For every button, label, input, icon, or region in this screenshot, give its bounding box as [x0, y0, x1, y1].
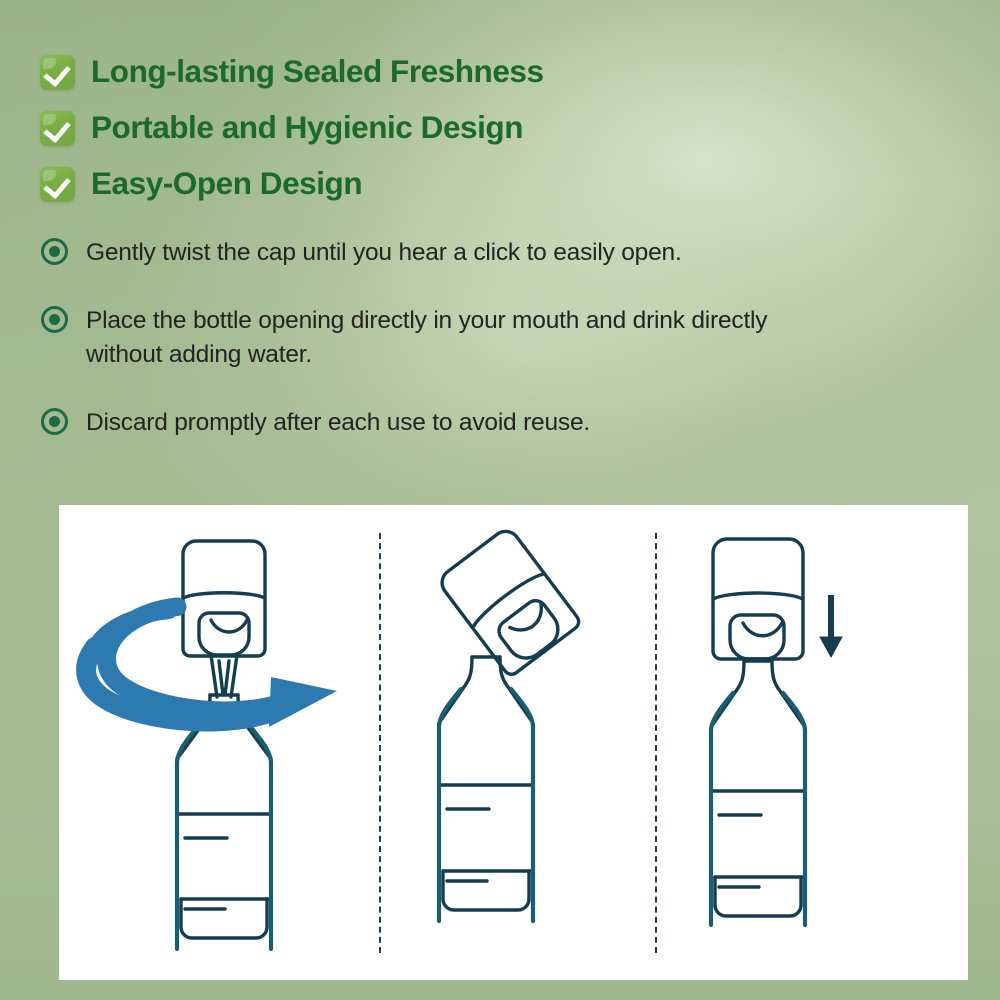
instruction-text: Discard promptly after each use to avoid…	[86, 406, 590, 439]
bottle-cap-press-down-icon	[655, 505, 968, 980]
remove-cap-step	[379, 505, 655, 980]
product-infographic: Long-lasting Sealed Freshness Portable a…	[0, 0, 1000, 1000]
feature-item: Long-lasting Sealed Freshness	[40, 44, 740, 100]
bottle-cap-removed-icon	[379, 505, 655, 980]
illustration-panel	[59, 505, 968, 980]
check-square-icon	[40, 111, 75, 146]
feature-label: Long-lasting Sealed Freshness	[91, 56, 544, 88]
instruction-text: Gently twist the cap until you hear a cl…	[86, 236, 682, 269]
feature-list: Long-lasting Sealed Freshness Portable a…	[40, 44, 740, 212]
check-square-icon	[40, 55, 75, 90]
feature-label: Portable and Hygienic Design	[91, 112, 523, 144]
instruction-list: Gently twist the cap until you hear a cl…	[41, 236, 831, 439]
replace-cap-step	[655, 505, 968, 980]
instruction-item: Place the bottle opening directly in you…	[41, 304, 831, 371]
down-arrow	[820, 595, 842, 657]
target-bullet-icon	[41, 238, 68, 265]
instruction-item: Gently twist the cap until you hear a cl…	[41, 236, 831, 269]
instruction-text: Place the bottle opening directly in you…	[86, 304, 826, 371]
bottle-twist-rotation-icon	[59, 505, 379, 980]
instruction-item: Discard promptly after each use to avoid…	[41, 406, 831, 439]
feature-label: Easy-Open Design	[91, 168, 362, 200]
target-bullet-icon	[41, 408, 68, 435]
twist-cap-step	[59, 505, 379, 980]
target-bullet-icon	[41, 306, 68, 333]
feature-item: Portable and Hygienic Design	[40, 100, 740, 156]
feature-item: Easy-Open Design	[40, 156, 740, 212]
check-square-icon	[40, 167, 75, 202]
